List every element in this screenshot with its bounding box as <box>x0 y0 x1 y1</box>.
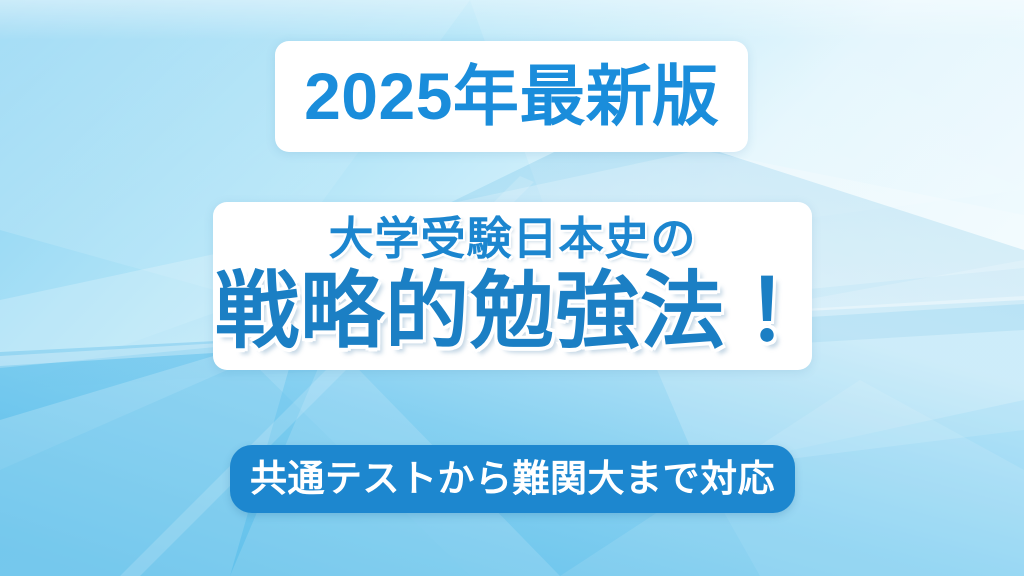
headline-card: 大学受験日本史の 戦略的勉強法！ <box>213 202 812 370</box>
eyebrow-card: 2025年最新版 <box>275 41 748 152</box>
eyebrow-label: 2025年最新版 <box>304 63 719 129</box>
coverage-badge-label: 共通テストから難関大まで対応 <box>250 460 775 497</box>
thumbnail-canvas: 2025年最新版 大学受験日本史の 戦略的勉強法！ 共通テストから難関大まで対応 <box>0 0 1024 576</box>
coverage-badge: 共通テストから難関大まで対応 <box>230 445 795 513</box>
content-stack: 2025年最新版 大学受験日本史の 戦略的勉強法！ 共通テストから難関大まで対応 <box>0 0 1024 576</box>
headline-mainline: 戦略的勉強法！ <box>215 269 810 353</box>
headline-subline: 大学受験日本史の <box>328 216 696 261</box>
